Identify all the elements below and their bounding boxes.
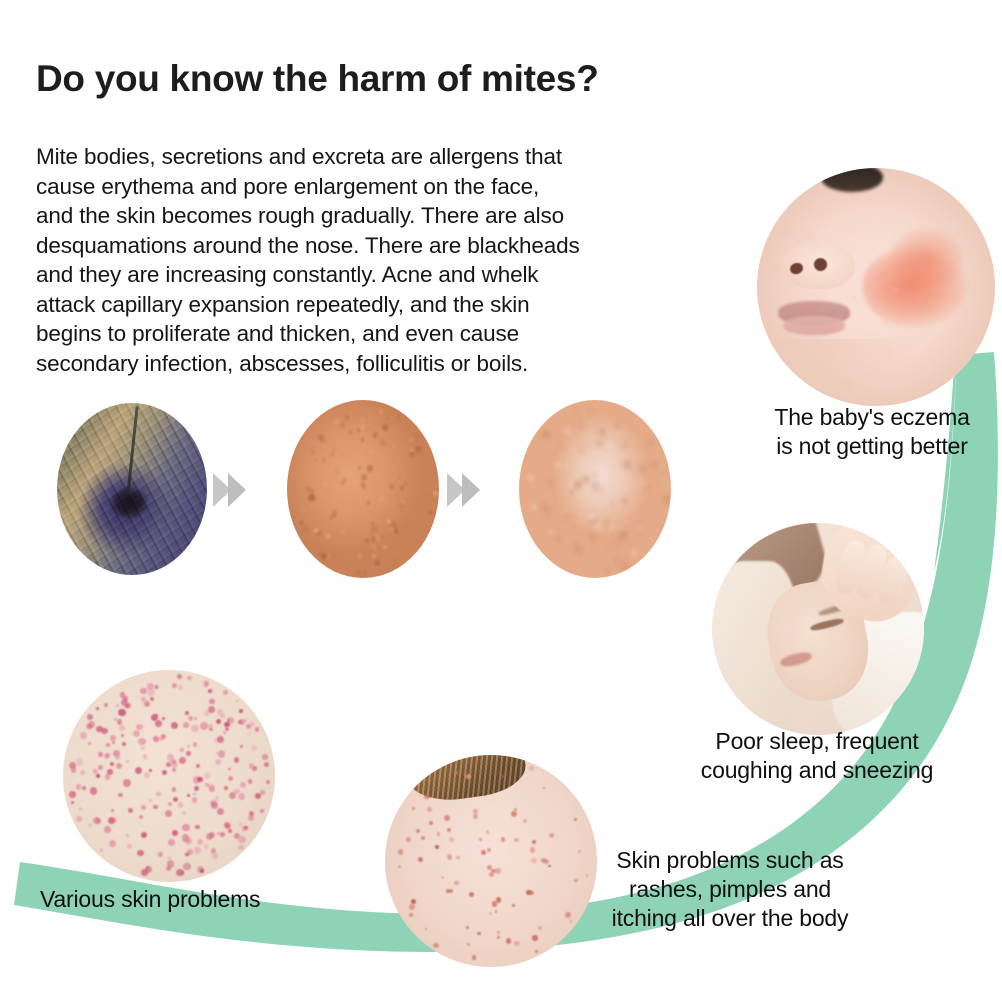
paragraph-line: cause erythema and pore enlargement on t… [36,172,704,202]
paragraph-line: secondary infection, abscesses, follicul… [36,349,704,379]
paragraph-line: Mite bodies, secretions and excreta are … [36,142,704,172]
paragraph-line: and they are increasing constantly. Acne… [36,260,704,290]
caption-line: Skin problems such as [580,846,880,875]
caption-various-skin-problems: Various skin problems [40,885,320,914]
caption-line: Poor sleep, frequent [672,727,962,756]
paragraph-line: begins to proliferate and thicken, and e… [36,319,704,349]
paragraph-line: attack capillary expansion repeatedly, a… [36,290,704,320]
caption-line: itching all over the body [580,904,880,933]
caption-line: Various skin problems [40,885,320,914]
paragraph-line: desquamations around the nose. There are… [36,231,704,261]
caption-line: coughing and sneezing [672,756,962,785]
caption-line: is not getting better [744,432,1000,461]
caption-skin-problems: Skin problems such as rashes, pimples an… [580,846,880,933]
body-paragraph: Mite bodies, secretions and excreta are … [36,142,704,378]
infographic-poster: Do you know the harm of mites? Mite bodi… [0,0,1002,1002]
caption-poor-sleep: Poor sleep, frequent coughing and sneezi… [672,727,962,785]
page-title: Do you know the harm of mites? [36,58,599,100]
caption-baby-eczema: The baby's eczema is not getting better [744,403,1000,461]
caption-line: rashes, pimples and [580,875,880,904]
caption-line: The baby's eczema [744,403,1000,432]
paragraph-line: and the skin becomes rough gradually. Th… [36,201,704,231]
